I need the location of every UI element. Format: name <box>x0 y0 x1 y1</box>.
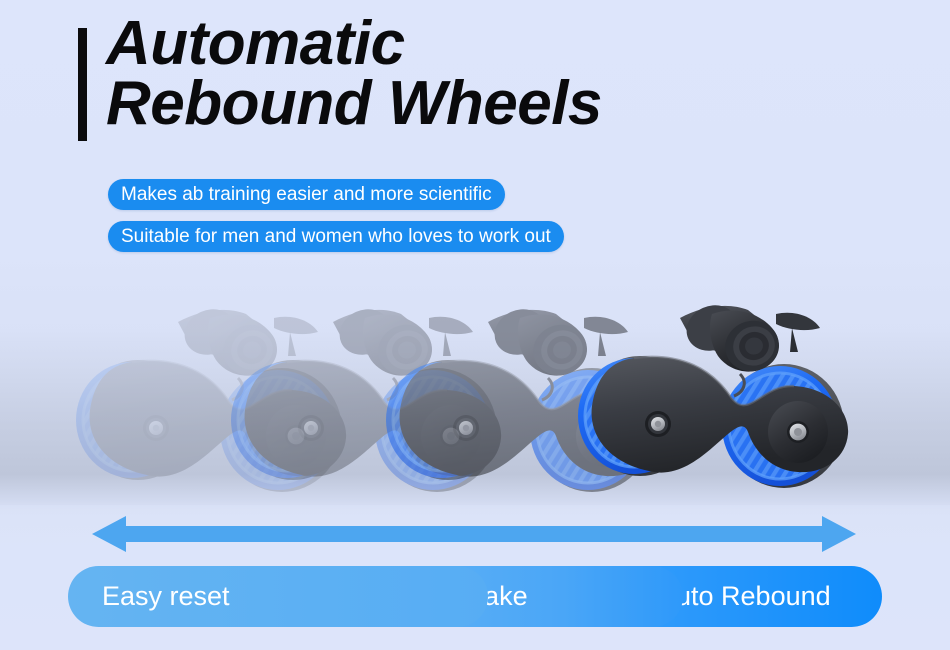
feature-pill-label: Makes ab training easier and more scient… <box>121 185 492 204</box>
label-segment-text: Auto Rebound <box>658 583 831 610</box>
feature-pill: Makes ab training easier and more scient… <box>108 179 505 210</box>
feature-pill: Suitable for men and women who loves to … <box>108 221 564 252</box>
label-segment-text: Easy reset <box>102 583 230 610</box>
feature-label-bar: Auto Rebound Stable Brake Easy reset <box>68 566 882 627</box>
motion-range-arrow-icon <box>92 516 856 552</box>
product-stage <box>0 262 950 512</box>
label-segment-easy-reset[interactable]: Easy reset <box>68 566 488 627</box>
page-title: Automatic Rebound Wheels <box>106 14 866 134</box>
feature-pill-label: Suitable for men and women who loves to … <box>121 227 551 246</box>
product-image <box>562 266 862 496</box>
headline-accent-bar <box>78 28 87 141</box>
product-banner: Automatic Rebound Wheels Makes ab traini… <box>0 0 950 650</box>
